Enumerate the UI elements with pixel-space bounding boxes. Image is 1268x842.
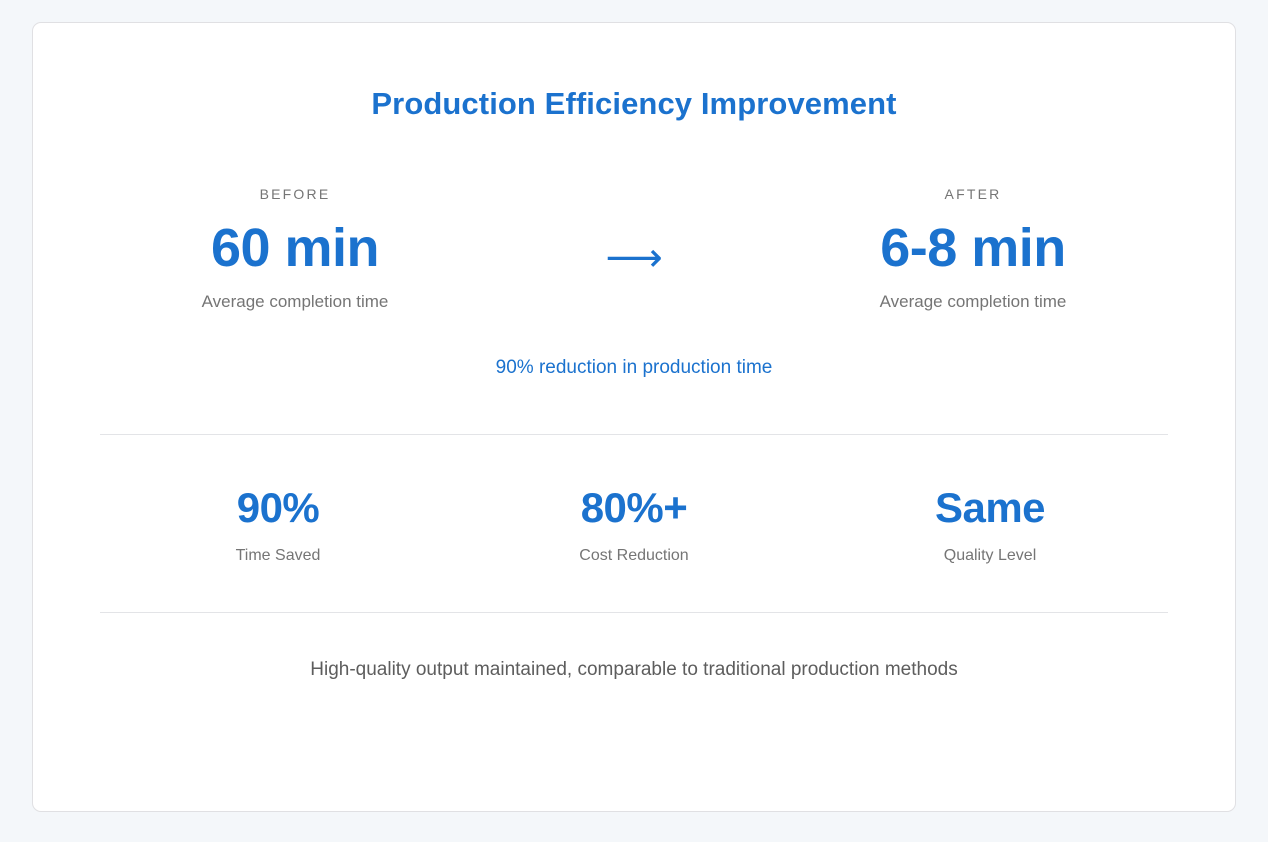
after-label: After bbox=[778, 185, 1168, 203]
quality-footnote: High-quality output maintained, comparab… bbox=[100, 613, 1168, 683]
stat-value: Same bbox=[812, 483, 1168, 533]
before-value: 60 min bbox=[100, 217, 490, 279]
arrow-right-icon: ⟶ bbox=[490, 220, 778, 278]
before-label: Before bbox=[100, 185, 490, 203]
stat-label: Quality Level bbox=[812, 545, 1168, 566]
efficiency-summary-card: Production Efficiency Improvement Before… bbox=[32, 22, 1236, 812]
after-value: 6-8 min bbox=[778, 217, 1168, 279]
stat-quality-level: Same Quality Level bbox=[812, 483, 1168, 566]
before-caption: Average completion time bbox=[100, 291, 490, 313]
stat-label: Time Saved bbox=[100, 545, 456, 566]
page-title: Production Efficiency Improvement bbox=[100, 23, 1168, 123]
stat-value: 80%+ bbox=[456, 483, 812, 533]
stats-row: 90% Time Saved 80%+ Cost Reduction Same … bbox=[100, 435, 1168, 612]
reduction-note: 90% reduction in production time bbox=[100, 355, 1168, 381]
stat-cost-reduction: 80%+ Cost Reduction bbox=[456, 483, 812, 566]
page-root: Production Efficiency Improvement Before… bbox=[0, 0, 1268, 842]
stat-label: Cost Reduction bbox=[456, 545, 812, 566]
before-column: Before 60 min Average completion time bbox=[100, 185, 490, 313]
before-after-comparison: Before 60 min Average completion time ⟶ … bbox=[100, 185, 1168, 313]
after-column: After 6-8 min Average completion time bbox=[778, 185, 1168, 313]
stat-time-saved: 90% Time Saved bbox=[100, 483, 456, 566]
after-caption: Average completion time bbox=[778, 291, 1168, 313]
stat-value: 90% bbox=[100, 483, 456, 533]
